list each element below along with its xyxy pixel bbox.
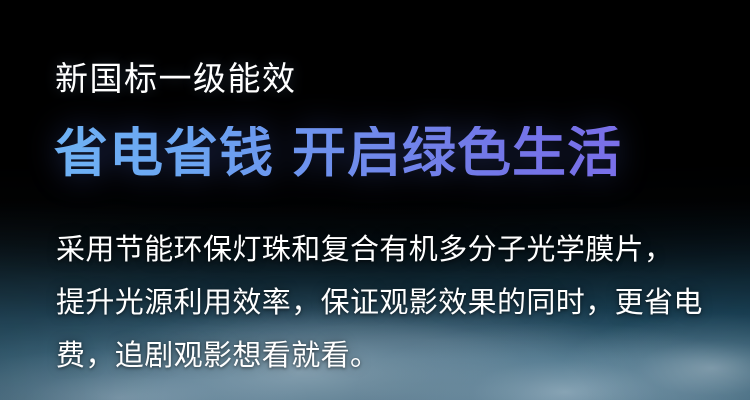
body-paragraph: 采用节能环保灯珠和复合有机多分子光学膜片， 提升光源利用效率，保证观影效果的同时… (56, 224, 716, 383)
body-line-2: 提升光源利用效率，保证观影效果的同时，更省电 (56, 277, 716, 330)
headline: 省电省钱开启绿色生活 (54, 126, 622, 180)
headline-part-2: 开启绿色生活 (292, 123, 622, 183)
body-line-3: 费，追剧观影想看就看。 (56, 330, 716, 383)
banner-content: 新国标一级能效 省电省钱开启绿色生活 采用节能环保灯珠和复合有机多分子光学膜片，… (0, 0, 750, 400)
promo-banner: 新国标一级能效 省电省钱开启绿色生活 采用节能环保灯珠和复合有机多分子光学膜片，… (0, 0, 750, 400)
eyebrow-text: 新国标一级能效 (55, 62, 297, 95)
body-line-1: 采用节能环保灯珠和复合有机多分子光学膜片， (56, 224, 716, 277)
headline-part-1: 省电省钱 (54, 123, 274, 183)
